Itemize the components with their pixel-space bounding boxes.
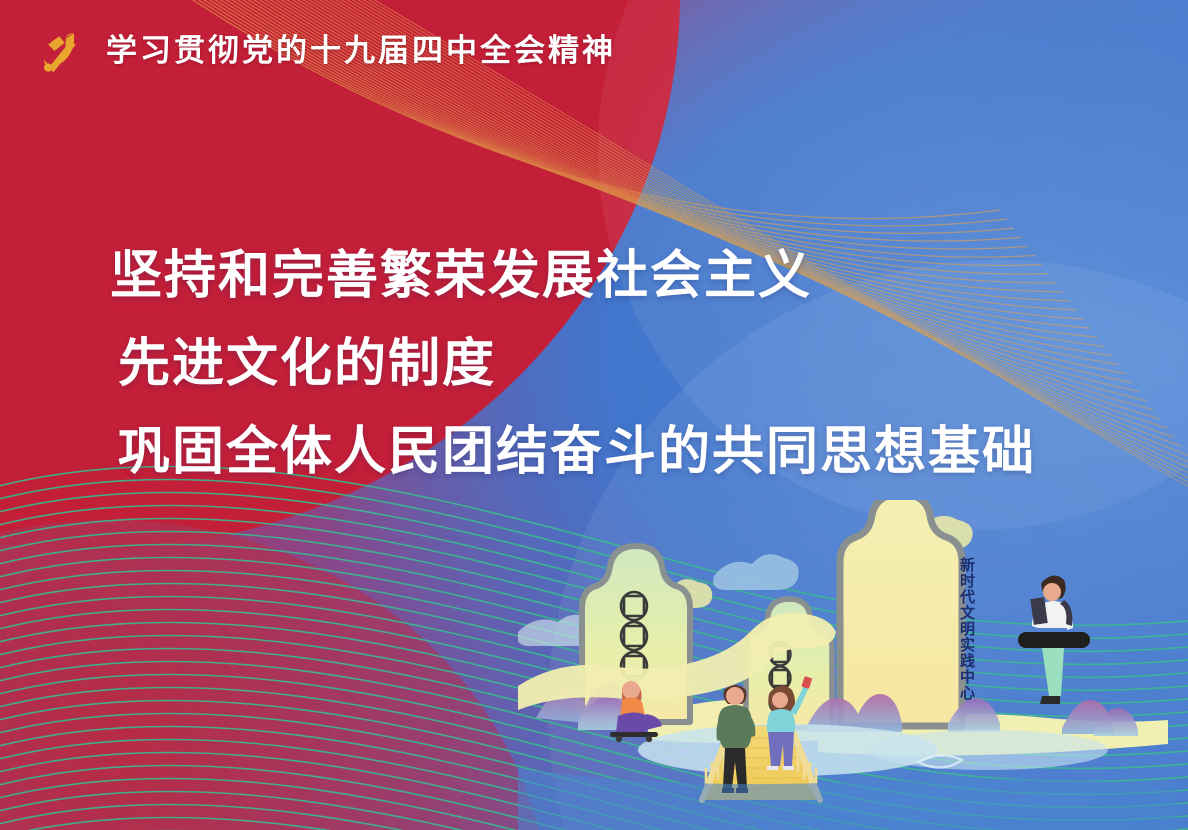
figure-skateboard-carrier <box>1018 575 1090 704</box>
header-bar: 学习贯彻党的十九届四中全会精神 <box>38 28 616 74</box>
headline-line-3: 巩固全体人民团结奋斗的共同思想基础 <box>110 408 1036 496</box>
water-band <box>518 768 1178 830</box>
header-title: 学习贯彻党的十九届四中全会精神 <box>106 36 616 67</box>
illustration-scene <box>518 500 1178 830</box>
building-main-label: 新时代文明实践中心 <box>957 557 978 701</box>
poster-root: 学习贯彻党的十九届四中全会精神 坚持和完善繁荣发展社会主义 先进文化的制度 巩固… <box>0 0 1188 830</box>
headline-line-1: 坚持和完善繁荣发展社会主义 <box>110 232 1036 320</box>
page-title: 坚持和完善繁荣发展社会主义 先进文化的制度 巩固全体人民团结奋斗的共同思想基础 <box>110 232 1036 496</box>
headline-line-2: 先进文化的制度 <box>110 320 1036 408</box>
party-emblem-hammer-sickle-icon <box>38 28 84 74</box>
building-main <box>840 500 962 726</box>
